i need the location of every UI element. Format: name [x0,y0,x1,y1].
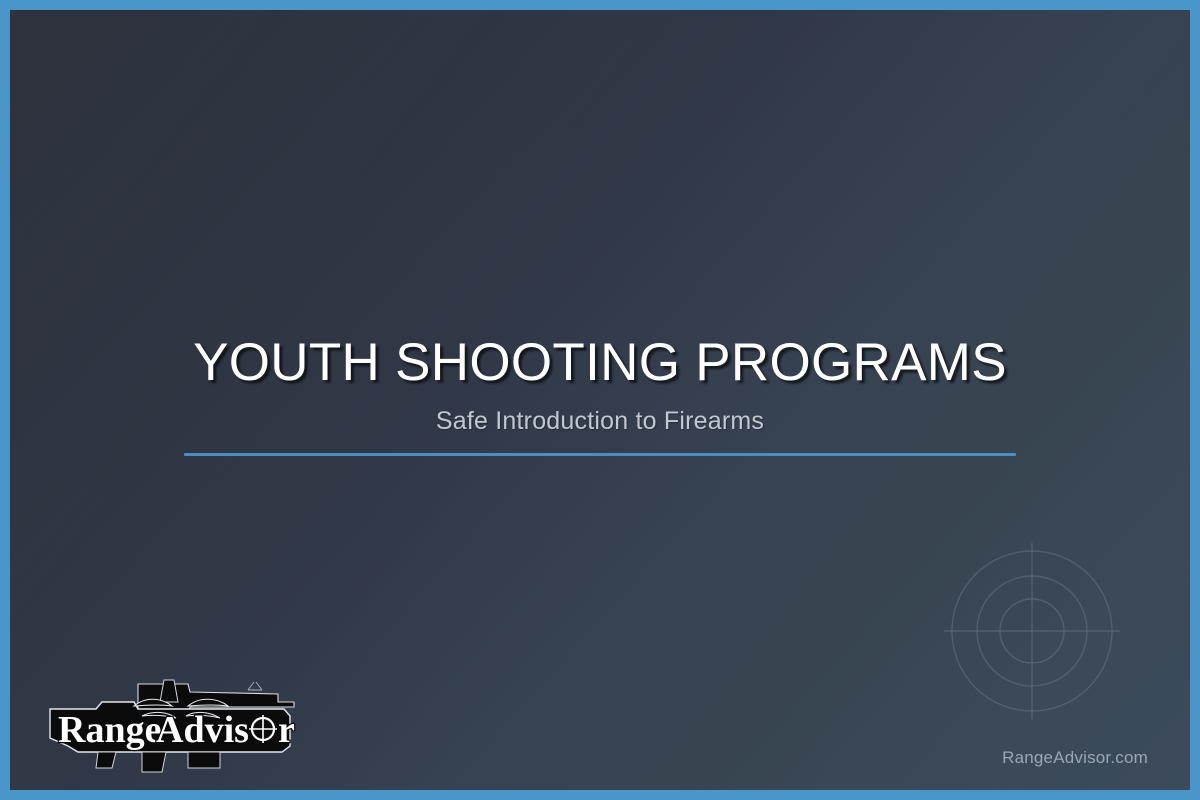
title-divider [184,453,1016,456]
crosshair-target-icon [932,531,1132,731]
footer-url: RangeAdvisor.com [1002,748,1148,768]
slide-canvas: YOUTH SHOOTING PROGRAMS Safe Introductio… [10,10,1190,790]
logo-word-r: r [278,709,295,751]
title-block: YOUTH SHOOTING PROGRAMS Safe Introductio… [10,335,1190,436]
logo-word-advis: Advis [156,709,249,751]
presentation-slide: YOUTH SHOOTING PROGRAMS Safe Introductio… [0,0,1200,800]
page-title: YOUTH SHOOTING PROGRAMS [10,335,1190,391]
rail-ticks [248,682,262,690]
page-subtitle: Safe Introduction to Firearms [10,407,1190,436]
logo-word-range: Range [58,709,161,751]
brand-logo[interactable]: Range Advis r [38,676,310,774]
